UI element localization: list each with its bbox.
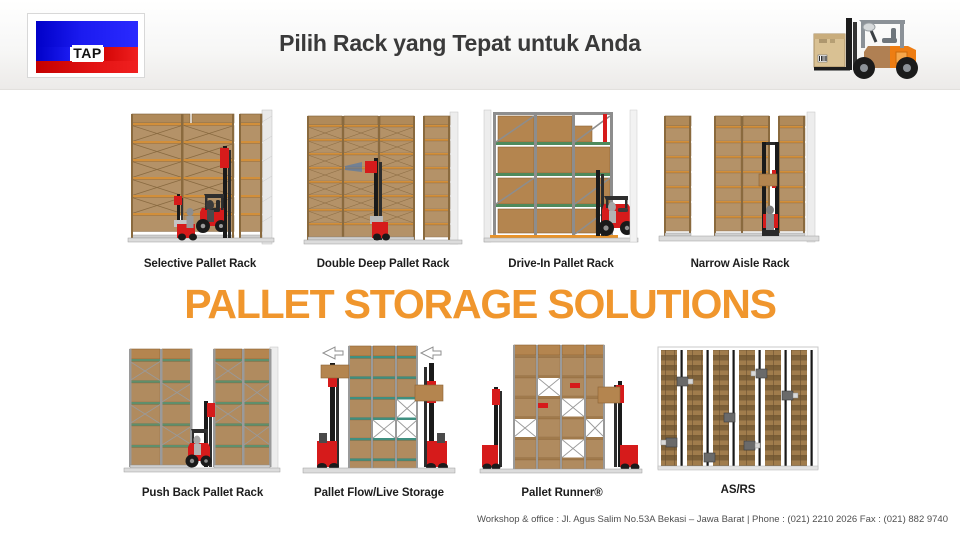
rack-card-double-deep-pallet-rack[interactable]: Double Deep Pallet Rack: [300, 104, 466, 276]
header-bar: TAP Pilih Rack yang Tepat untuk Anda: [0, 0, 960, 90]
logo-red-head: [104, 47, 138, 61]
rack-label-narrow-aisle-rack: Narrow Aisle Rack: [655, 258, 825, 270]
rack-card-push-back-pallet-rack[interactable]: Push Back Pallet Rack: [120, 341, 285, 503]
tap-logo: TAP: [27, 13, 145, 78]
forklift-icon: [812, 8, 942, 82]
selective-pallet-rack-illustration: [120, 104, 280, 252]
rack-card-drive-in-pallet-rack[interactable]: Drive-In Pallet Rack: [480, 104, 642, 276]
drive-in-pallet-rack-illustration: [480, 104, 642, 252]
footer-contact-info: Workshop & office : Jl. Agus Salim No.53…: [0, 514, 948, 525]
page-title: Pilih Rack yang Tepat untuk Anda: [180, 30, 740, 57]
logo-text: TAP: [72, 45, 103, 62]
rack-label-pallet-runner: Pallet Runner®: [478, 487, 646, 499]
logo-blue-band: [36, 21, 138, 47]
slide-canvas: TAP Pilih Rack yang Tepat untuk Anda: [0, 0, 960, 540]
logo-red-band: [36, 61, 138, 73]
push-back-pallet-rack-illustration: [120, 341, 285, 481]
logo-blue-foot: [36, 47, 70, 61]
rack-card-pallet-runner[interactable]: Pallet Runner®: [478, 341, 646, 503]
header-divider: [0, 89, 960, 90]
rack-card-asrs[interactable]: AS/RS: [652, 341, 824, 503]
rack-card-selective-pallet-rack[interactable]: Selective Pallet Rack: [120, 104, 280, 276]
rack-label-asrs: AS/RS: [652, 484, 824, 496]
rack-label-selective-pallet-rack: Selective Pallet Rack: [120, 258, 280, 270]
rack-label-push-back-pallet-rack: Push Back Pallet Rack: [120, 487, 285, 499]
headline-pallet-storage-solutions: PALLET STORAGE SOLUTIONS: [0, 281, 960, 328]
pallet-flow-live-storage-illustration: [295, 341, 463, 481]
rack-card-pallet-flow-live-storage[interactable]: Pallet Flow/Live Storage: [295, 341, 463, 503]
rack-label-drive-in-pallet-rack: Drive-In Pallet Rack: [480, 258, 642, 270]
rack-card-narrow-aisle-rack[interactable]: Narrow Aisle Rack: [655, 104, 825, 276]
narrow-aisle-rack-illustration: [655, 104, 825, 252]
double-deep-pallet-rack-illustration: [300, 104, 466, 252]
rack-label-double-deep-pallet-rack: Double Deep Pallet Rack: [300, 258, 466, 270]
rack-label-pallet-flow-live-storage: Pallet Flow/Live Storage: [295, 487, 463, 499]
asrs-illustration: [652, 341, 824, 481]
pallet-runner-illustration: [478, 341, 646, 481]
